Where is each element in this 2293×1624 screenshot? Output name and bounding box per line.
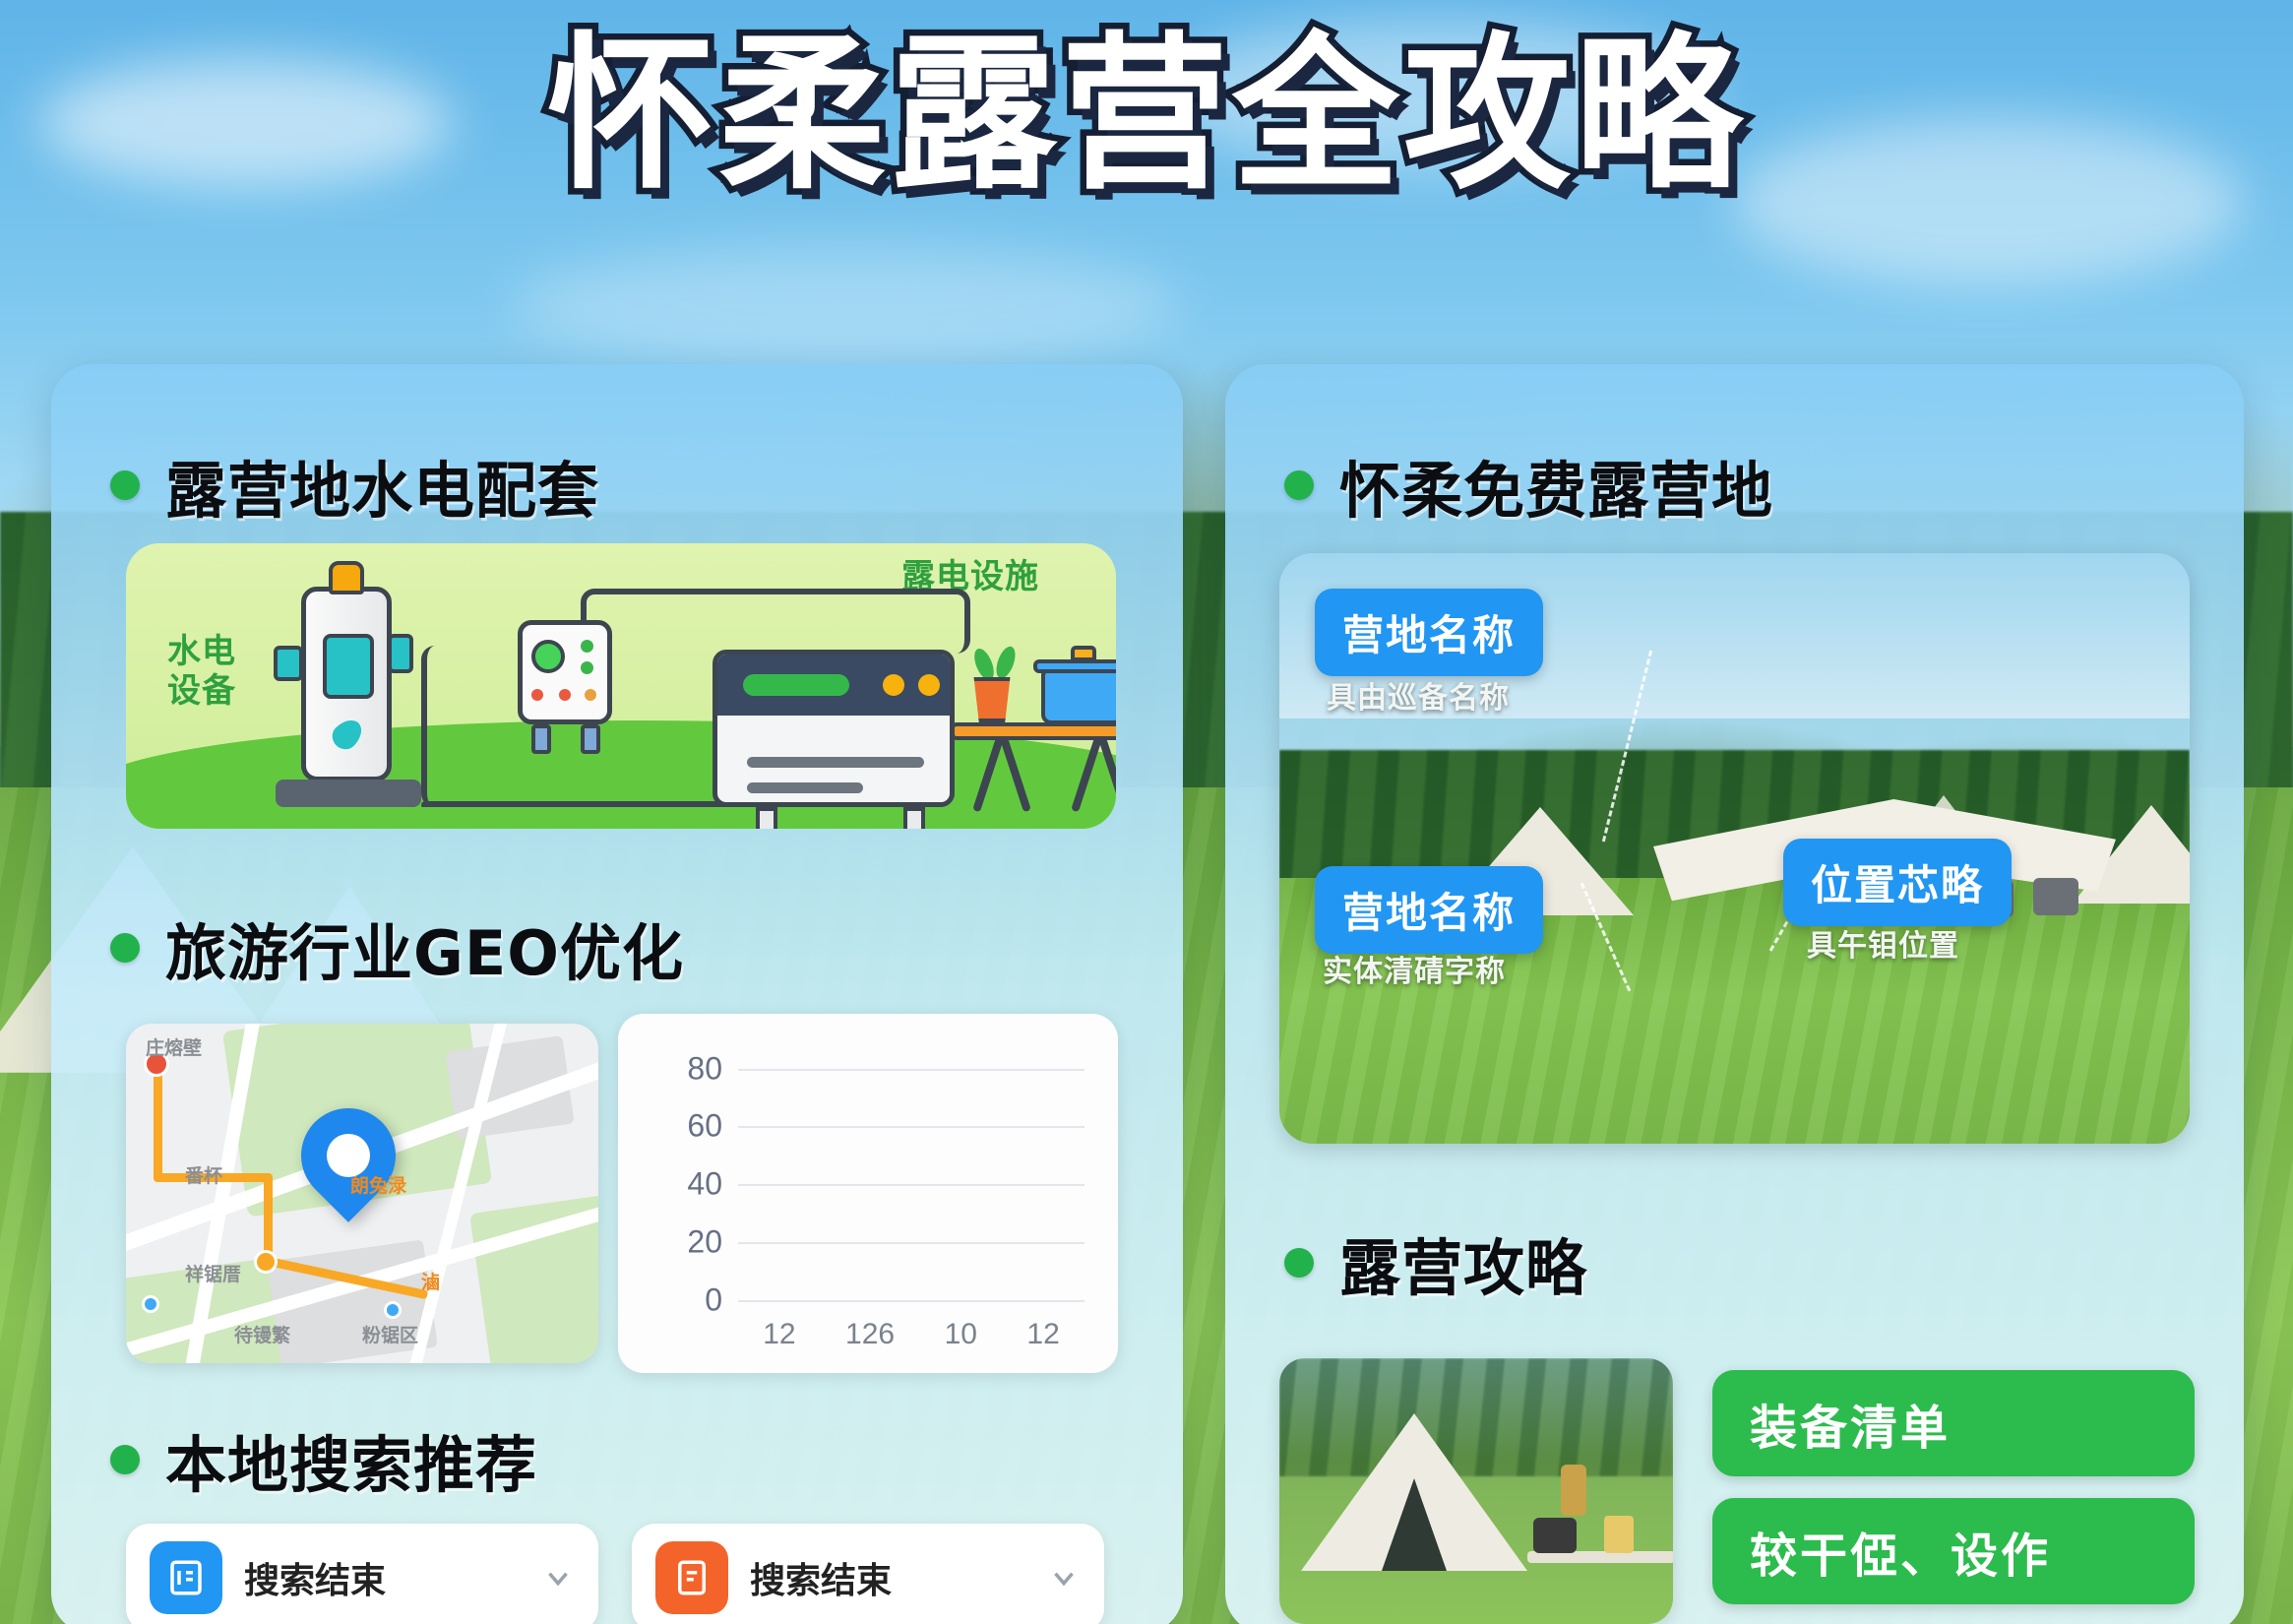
pump-base xyxy=(276,780,421,807)
guide-kettle-icon xyxy=(1533,1518,1577,1553)
camp-chair xyxy=(2033,878,2078,915)
camp-table-icon xyxy=(951,722,1116,740)
chart-y-tick: 20 xyxy=(687,1224,722,1261)
chart-y-tick: 80 xyxy=(687,1050,722,1087)
map-route xyxy=(264,1173,273,1262)
chart-y-tick: 60 xyxy=(687,1108,722,1145)
chart-x-tick: 12 xyxy=(1026,1318,1059,1351)
equipment-list-button[interactable]: 装备清单 xyxy=(1712,1370,2195,1476)
map-label: 祥锯厝 xyxy=(185,1260,241,1286)
map-node-icon xyxy=(384,1301,402,1319)
map-label: 朗兔渌 xyxy=(350,1171,406,1198)
control-indicator-icon xyxy=(585,689,596,701)
guide-cup-icon xyxy=(1604,1516,1634,1553)
cooking-pot-icon xyxy=(1041,669,1116,724)
poster-title-wrap: 怀柔露营全攻略 xyxy=(0,28,2293,204)
search-result-label: 搜索结束 xyxy=(750,1552,1025,1603)
guide-lantern-icon xyxy=(1561,1465,1586,1516)
section-title: 露营地水电配套 xyxy=(165,441,599,530)
camping-guide-photo xyxy=(1279,1358,1673,1624)
search-result-card[interactable]: 搜索结束 xyxy=(632,1524,1104,1624)
control-box-icon xyxy=(518,620,612,724)
map-label: 粉锯区 xyxy=(362,1321,418,1347)
chart-x-axis: 121261012 xyxy=(738,1318,1085,1351)
status-badge: 营地名称 xyxy=(1315,866,1543,954)
pump-nozzle-icon xyxy=(388,634,413,673)
chart-x-tick: 126 xyxy=(845,1318,895,1351)
map-label: 番杯 xyxy=(185,1161,222,1188)
generator-status-bar xyxy=(743,674,849,696)
plug-icon xyxy=(581,724,600,754)
pump-lamp-icon xyxy=(329,561,364,594)
cable xyxy=(421,801,746,809)
flower-pot-icon xyxy=(970,677,1014,722)
bullet-icon xyxy=(1284,470,1314,500)
map-node-icon xyxy=(142,1295,159,1313)
generator-leg xyxy=(903,807,925,829)
map-label: 滷 xyxy=(421,1268,440,1294)
geo-bar-chart-card: 020406080 121261012 xyxy=(618,1014,1118,1373)
guide-treeline xyxy=(1279,1358,1673,1476)
control-indicator-icon xyxy=(581,661,593,674)
section-header-local-search: 本地搜索推荐 xyxy=(51,1415,537,1504)
section-header-camping-guide: 露营攻略 xyxy=(1225,1218,1587,1307)
guide-secondary-button[interactable]: 较干俹、设作 xyxy=(1712,1498,2195,1604)
guide-button-list: 装备清单 较干俹、设作 xyxy=(1712,1370,2195,1604)
search-result-label: 搜索结束 xyxy=(244,1552,520,1603)
bullet-icon xyxy=(110,1445,140,1474)
status-badge: 营地名称 xyxy=(1315,589,1543,676)
cable xyxy=(421,646,524,807)
badge-subtitle: 具由巡备名称 xyxy=(1327,673,1510,717)
chevron-down-icon[interactable] xyxy=(1047,1561,1081,1594)
chevron-down-icon[interactable] xyxy=(541,1561,575,1594)
generator-icon xyxy=(713,650,955,807)
chart-plot-area: 020406080 xyxy=(738,1047,1085,1302)
generator-line xyxy=(747,782,863,793)
water-power-equipment-label: 水电 设备 xyxy=(167,632,236,711)
chart-y-tick: 0 xyxy=(705,1282,722,1319)
generator-led-icon xyxy=(883,674,904,696)
generator-line xyxy=(747,757,924,768)
page-title: 怀柔露营全攻略 xyxy=(547,28,1746,204)
section-title: 露营攻略 xyxy=(1339,1218,1587,1307)
pump-screen-icon xyxy=(323,634,374,699)
control-indicator-icon xyxy=(531,689,543,701)
local-search-results: 搜索结束 搜索结束 xyxy=(126,1524,1104,1624)
map-route xyxy=(154,1063,162,1181)
badge-subtitle: 实体清碃字称 xyxy=(1323,947,1506,990)
bullet-icon xyxy=(1284,1248,1314,1278)
badge-subtitle: 具午钼位置 xyxy=(1807,921,1959,965)
clipboard-icon xyxy=(655,1541,728,1614)
document-icon xyxy=(150,1541,222,1614)
map-node-icon xyxy=(254,1250,278,1274)
campsite-photo-card: 营地名称 具由巡备名称 营地名称 实体清碃字称 位置芯略 具午钼位置 xyxy=(1279,553,2190,1144)
utility-illustration-card: 水电 设备 露电设施 xyxy=(126,543,1116,829)
chart-y-tick: 40 xyxy=(687,1166,722,1203)
section-title: 本地搜索推荐 xyxy=(165,1415,537,1504)
bullet-icon xyxy=(110,933,140,963)
search-result-card[interactable]: 搜索结束 xyxy=(126,1524,598,1624)
chart-x-tick: 10 xyxy=(945,1318,977,1351)
plug-icon xyxy=(531,724,551,754)
control-indicator-icon xyxy=(581,640,593,653)
section-title: 怀柔免费露营地 xyxy=(1339,441,1773,530)
generator-led-icon xyxy=(918,674,940,696)
control-indicator-icon xyxy=(531,640,565,673)
control-indicator-icon xyxy=(559,689,571,701)
section-header-free-campsites: 怀柔免费露营地 xyxy=(1225,441,1773,530)
pump-nozzle-icon xyxy=(274,646,303,681)
map-preview-card[interactable]: 庄熔壁 番杯 朗兔渌 滷 粉锯区 待镘繁 祥锯厝 xyxy=(126,1024,598,1363)
map-label: 庄熔壁 xyxy=(146,1033,202,1060)
section-title: 旅游行业GEO优化 xyxy=(165,904,684,992)
chart-x-tick: 12 xyxy=(763,1318,795,1351)
status-badge: 位置芯略 xyxy=(1783,839,2012,926)
section-header-geo: 旅游行业GEO优化 xyxy=(51,904,684,992)
generator-leg xyxy=(756,807,777,829)
bullet-icon xyxy=(110,470,140,500)
map-label: 待镘繁 xyxy=(234,1321,290,1347)
section-header-utilities: 露营地水电配套 xyxy=(51,441,599,530)
cable xyxy=(581,589,970,654)
chart-bars xyxy=(738,1047,1085,1302)
plant-leaf-icon xyxy=(993,644,1020,680)
